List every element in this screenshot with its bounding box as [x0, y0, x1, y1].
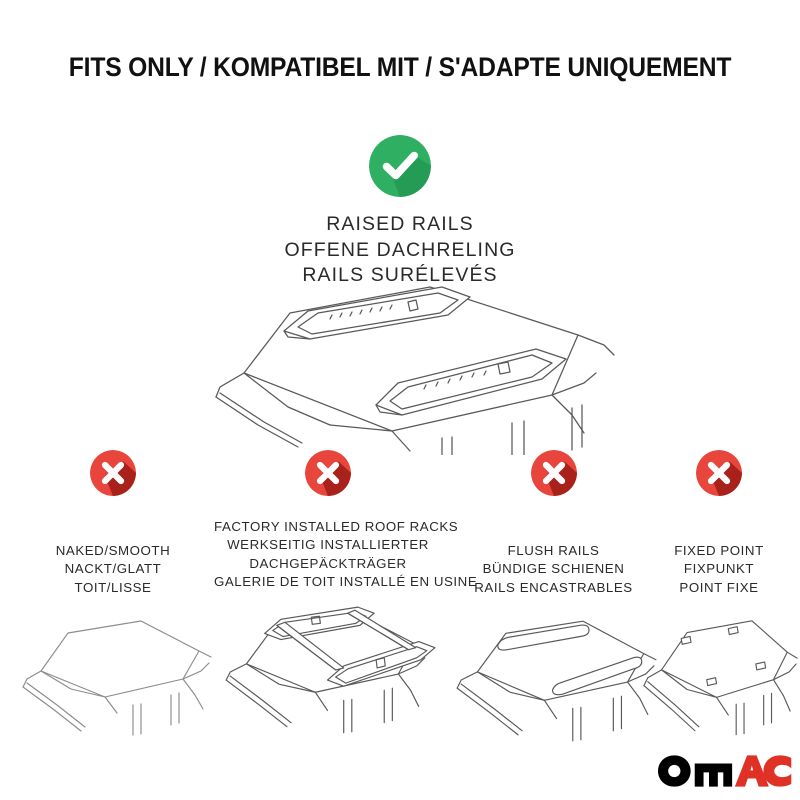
- incompatible-labels: NAKED/SMOOTH NACKT/GLATT TOIT/LISSE: [13, 518, 213, 597]
- compatible-section: RAISED RAILS OFFENE DACHRELING RAILS SUR…: [0, 135, 800, 289]
- incompatible-item-factory-roof-racks: FACTORY INSTALLED ROOF RACKS WERKSEITIG …: [214, 450, 442, 739]
- incompatible-labels: FLUSH RAILS BÜNDIGE SCHIENEN RAILS ENCAS…: [447, 518, 660, 597]
- incompatible-labels: FACTORY INSTALLED ROOF RACKS WERKSEITIG …: [214, 518, 442, 591]
- label-en: NAKED/SMOOTH: [13, 542, 213, 560]
- label-de: FIXPUNKT: [638, 560, 800, 578]
- infographic-page: FITS ONLY / KOMPATIBEL MIT / S'ADAPTE UN…: [0, 0, 800, 800]
- car-roof-with-flush-rails-illustration: [447, 597, 660, 746]
- check-circle-icon: [369, 135, 431, 197]
- label-en: FACTORY INSTALLED ROOF RACKS: [214, 518, 442, 536]
- label-de-2: DACHGEPÄCKTRÄGER: [214, 555, 442, 573]
- cross-circle-icon: [531, 450, 577, 496]
- page-title: FITS ONLY / KOMPATIBEL MIT / S'ADAPTE UN…: [28, 53, 772, 82]
- incompatible-labels: FIXED POINT FIXPUNKT POINT FIXE: [638, 518, 800, 597]
- cross-circle-icon: [305, 450, 351, 496]
- label-fr: GALERIE DE TOIT INSTALLÉ EN USINE: [214, 573, 442, 591]
- compatible-label-de: OFFENE DACHRELING: [0, 238, 800, 264]
- car-roof-with-fixed-points-illustration: [638, 597, 800, 742]
- cross-circle-icon: [90, 450, 136, 496]
- cross-circle-icon: [696, 450, 742, 496]
- incompatible-item-naked-smooth: NAKED/SMOOTH NACKT/GLATT TOIT/LISSE: [13, 450, 213, 743]
- label-de: NACKT/GLATT: [13, 560, 213, 578]
- car-roof-with-factory-crossbars-illustration: [214, 591, 442, 739]
- car-roof-with-raised-rails-illustration: [180, 275, 640, 455]
- omac-logo: [658, 752, 794, 788]
- label-de: BÜNDIGE SCHIENEN: [447, 560, 660, 578]
- car-roof-naked-smooth-illustration: [13, 597, 213, 743]
- label-fr: RAILS ENCASTRABLES: [447, 579, 660, 597]
- incompatible-item-flush-rails: FLUSH RAILS BÜNDIGE SCHIENEN RAILS ENCAS…: [447, 450, 660, 746]
- label-en: FLUSH RAILS: [447, 542, 660, 560]
- incompatible-section: NAKED/SMOOTH NACKT/GLATT TOIT/LISSE: [0, 450, 800, 800]
- compatible-label-en: RAISED RAILS: [0, 212, 800, 238]
- incompatible-item-fixed-point: FIXED POINT FIXPUNKT POINT FIXE: [638, 450, 800, 742]
- label-en: FIXED POINT: [638, 542, 800, 560]
- label-fr: POINT FIXE: [638, 579, 800, 597]
- label-fr: TOIT/LISSE: [13, 579, 213, 597]
- label-de: WERKSEITIG INSTALLIERTER: [214, 536, 442, 554]
